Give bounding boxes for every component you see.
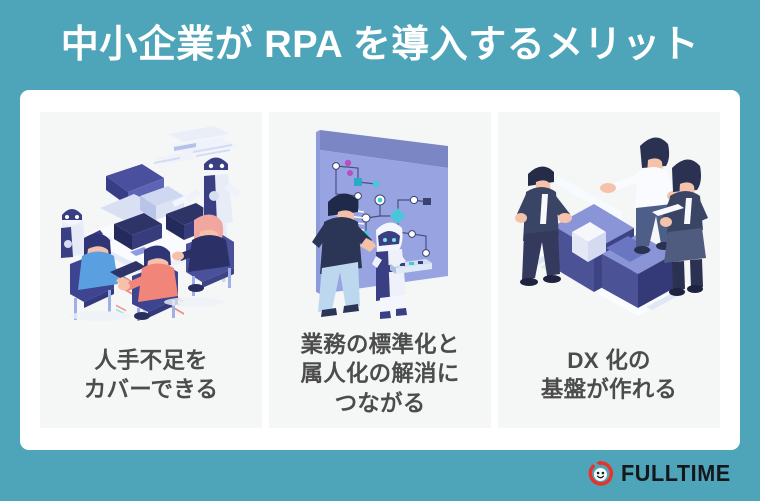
benefit-card-staff-shortage[interactable]: 人手不足を カバーできる: [40, 112, 262, 428]
illustration-people-and-robots-at-desks: [40, 112, 262, 324]
illustration-person-and-robot-at-flowchart-board: [269, 112, 491, 324]
brand-name: FULLTIME: [621, 460, 731, 487]
benefit-card-standardization[interactable]: 業務の標準化と 属人化の解消に つながる: [269, 112, 491, 428]
smiley-loop-icon: [587, 460, 614, 487]
benefit-caption: DX 化の 基盤が作れる: [535, 346, 683, 405]
benefit-caption: 人手不足を カバーできる: [78, 346, 224, 405]
brand-logo: FULLTIME: [587, 460, 738, 487]
cards-panel: 人手不足を カバーできる: [20, 90, 740, 450]
header-bar: 中小企業が RPA を導入するメリット: [0, 0, 760, 90]
benefit-card-dx-foundation[interactable]: DX 化の 基盤が作れる: [498, 112, 720, 428]
page-title: 中小企業が RPA を導入するメリット: [61, 26, 700, 64]
illustration-people-around-3d-dx-letters: [498, 112, 720, 324]
benefit-caption: 業務の標準化と 属人化の解消に つながる: [295, 330, 466, 418]
